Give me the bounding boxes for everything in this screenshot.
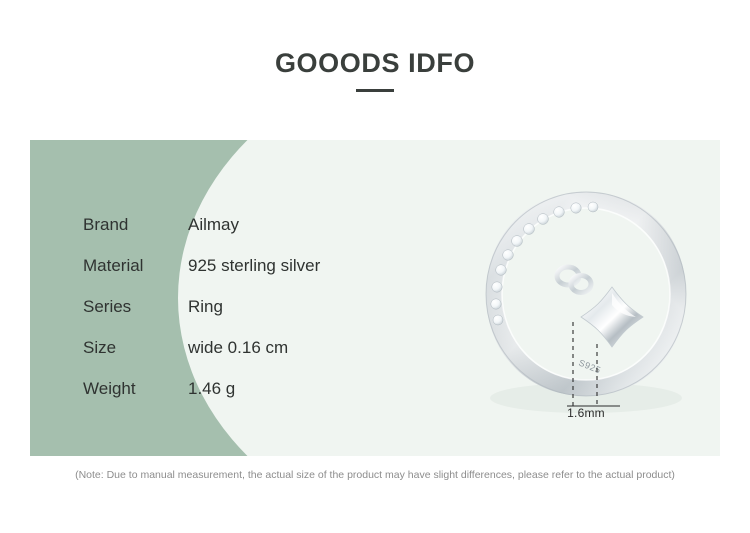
- title-divider: [356, 89, 394, 92]
- specification-list: BrandAilmay Material925 sterling silver …: [83, 204, 423, 409]
- dimension-label: 1.6mm: [556, 406, 616, 420]
- spec-value-material: 925 sterling silver: [188, 245, 320, 286]
- spec-label-size: Size: [83, 327, 188, 368]
- spec-label-weight: Weight: [83, 368, 188, 409]
- spec-value-series: Ring: [188, 286, 223, 327]
- product-info-card: GOOODS IDFO BrandAilmay Material925 ster…: [0, 0, 750, 533]
- product-info-panel: BrandAilmay Material925 sterling silver …: [30, 140, 720, 456]
- measurement-note: (Note: Due to manual measurement, the ac…: [0, 468, 750, 483]
- spec-label-series: Series: [83, 286, 188, 327]
- spec-row-size: Sizewide 0.16 cm: [83, 327, 423, 368]
- spec-row-material: Material925 sterling silver: [83, 245, 423, 286]
- spec-row-weight: Weight1.46 g: [83, 368, 423, 409]
- spec-value-brand: Ailmay: [188, 204, 239, 245]
- spec-row-brand: BrandAilmay: [83, 204, 423, 245]
- spec-value-size: wide 0.16 cm: [188, 327, 288, 368]
- page-title: GOOODS IDFO: [0, 46, 750, 80]
- spec-label-material: Material: [83, 245, 188, 286]
- dimension-annotation: [558, 314, 658, 414]
- spec-label-brand: Brand: [83, 204, 188, 245]
- charm-loop-icon: [557, 267, 591, 293]
- spec-row-series: SeriesRing: [83, 286, 423, 327]
- spec-value-weight: 1.46 g: [188, 368, 235, 409]
